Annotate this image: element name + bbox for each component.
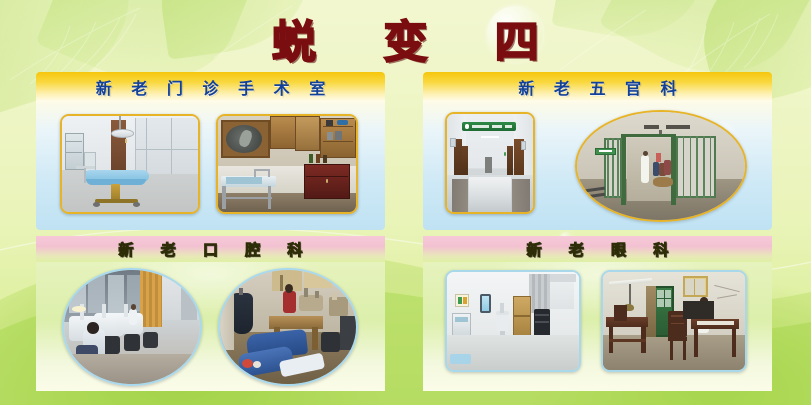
- photo-old-ent-corridor[interactable]: [575, 110, 747, 222]
- poster-title: 蜕 变 四: [246, 6, 565, 70]
- scene-new-operating-room: [62, 116, 198, 212]
- panel-body-ophthalmology-department: [423, 262, 772, 391]
- panel-outpatient-surgery: 新 老 门 诊 手 术 室: [36, 72, 385, 230]
- scene-old-dental-clinic: [220, 270, 356, 384]
- panel-dental-department: 新 老 口 腔 科: [36, 236, 385, 391]
- scene-old-operating-room: [218, 116, 356, 212]
- poster-title-area: 蜕 变 四: [0, 8, 811, 68]
- poster-canvas: 蜕 变 四 新 老 门 诊 手 术 室: [0, 0, 811, 405]
- panel-body-ent-department: [423, 102, 772, 230]
- panel-body-dental-department: [36, 262, 385, 391]
- photo-new-outpatient-operating-room[interactable]: [60, 114, 200, 214]
- panel-body-outpatient-surgery: [36, 102, 385, 230]
- panel-ent-department: 新 老 五 官 科: [423, 72, 772, 230]
- scene-new-corridor: [447, 114, 533, 212]
- panel-header-label: 新 老 门 诊 手 术 室: [89, 75, 332, 99]
- scene-new-eye-room: [447, 272, 579, 370]
- scene-old-corridor: [577, 112, 745, 220]
- photo-old-eye-exam-room[interactable]: [601, 270, 747, 372]
- photo-new-eye-exam-room[interactable]: [445, 270, 581, 372]
- photo-old-outpatient-operating-room[interactable]: [216, 114, 358, 214]
- panel-header-ophthalmology-department: 新 老 眼 科: [423, 236, 772, 262]
- panel-header-label: 新 老 口 腔 科: [108, 239, 314, 260]
- panel-header-label: 新 老 眼 科: [516, 239, 680, 260]
- photo-new-dental-clinic[interactable]: [62, 268, 202, 386]
- photo-new-ent-corridor[interactable]: [445, 112, 535, 214]
- scene-new-dental-clinic: [64, 270, 200, 384]
- panel-header-label: 新 老 五 官 科: [511, 75, 683, 99]
- panel-ophthalmology-department: 新 老 眼 科: [423, 236, 772, 391]
- panel-header-outpatient-surgery: 新 老 门 诊 手 术 室: [36, 72, 385, 102]
- photo-old-dental-clinic[interactable]: [218, 268, 358, 386]
- panel-header-ent-department: 新 老 五 官 科: [423, 72, 772, 102]
- scene-old-eye-room: [603, 272, 745, 370]
- panel-header-dental-department: 新 老 口 腔 科: [36, 236, 385, 262]
